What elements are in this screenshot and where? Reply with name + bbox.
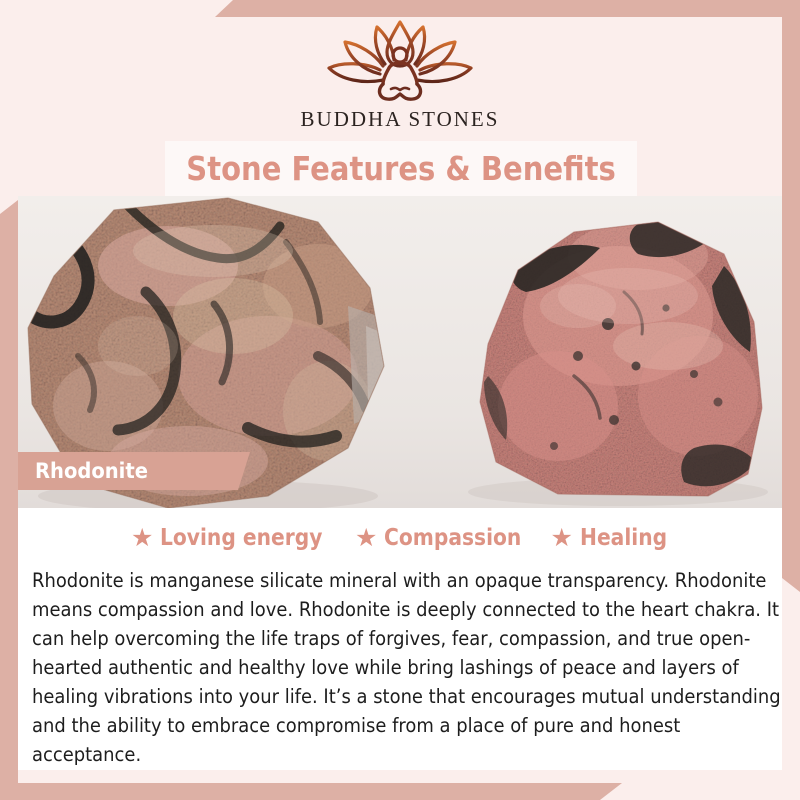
brand-name: BUDDHA STONES: [301, 107, 500, 132]
star-icon: ★: [551, 526, 573, 551]
benefit-label: Loving energy: [160, 525, 322, 551]
decor-band-bottom: [0, 783, 622, 800]
brand-logo: BUDDHA STONES: [0, 18, 800, 138]
stone-name-label: Rhodonite: [35, 459, 148, 483]
benefit-label: Compassion: [384, 525, 521, 551]
lotus-meditation-figure-icon: [325, 18, 475, 104]
star-icon: ★: [355, 526, 377, 551]
decor-band-top: [215, 0, 800, 17]
decor-band-left: [0, 200, 18, 783]
benefit-label: Healing: [580, 525, 667, 551]
benefit-item-2: ★ Healing: [541, 525, 679, 551]
benefit-item-1: ★ Compassion: [345, 525, 541, 551]
benefits-list: ★ Loving energy ★ Compassion ★ Healing: [18, 508, 782, 560]
poster-root: BUDDHA STONES Stone Features & Benefits: [0, 0, 800, 800]
star-icon: ★: [131, 526, 153, 551]
page-title: Stone Features & Benefits: [186, 149, 615, 188]
title-card: Stone Features & Benefits: [165, 141, 637, 196]
status-badge: Rhodonite: [18, 452, 250, 490]
description-card: ★ Loving energy ★ Compassion ★ Healing R…: [18, 508, 782, 770]
description-paragraph: Rhodonite is manganese silicate mineral …: [32, 566, 791, 769]
benefit-item-0: ★ Loving energy: [121, 525, 345, 551]
